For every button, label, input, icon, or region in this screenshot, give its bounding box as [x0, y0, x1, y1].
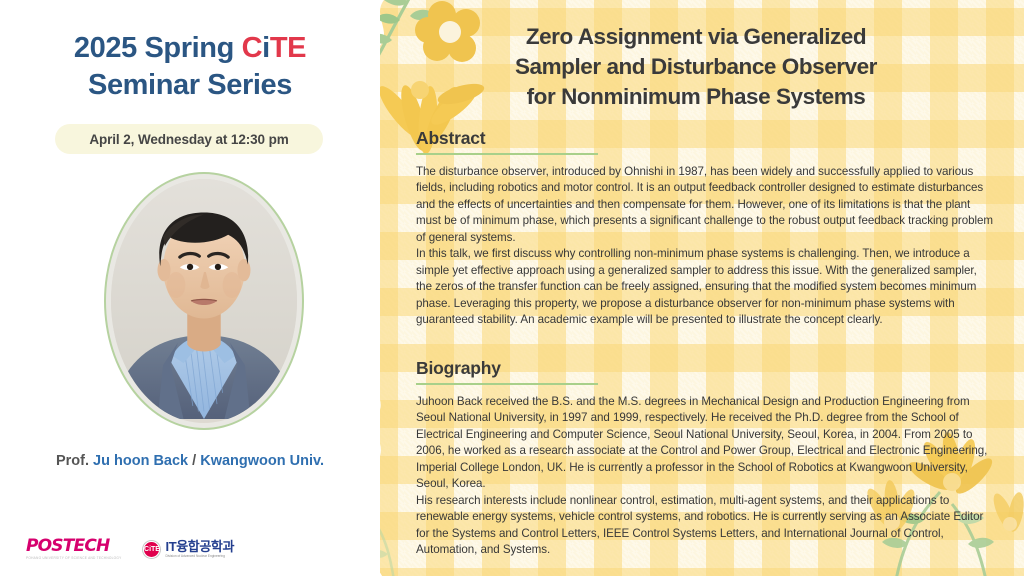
speaker-separator: / [188, 453, 200, 469]
postech-logo-tagline: POHANG UNIVERSITY OF SCIENCE AND TECHNOL… [26, 557, 121, 560]
seminar-poster: Zero Assignment via Generalized Sampler … [0, 0, 1024, 576]
biography-section: Biography Juhoon Back received the B.S. … [416, 358, 994, 559]
speaker-portrait-icon [111, 179, 297, 419]
cite-logo-text: IT융합공학과 Division of Advanced Nuclear Eng… [165, 540, 234, 558]
cite-badge-icon: CiTE [143, 541, 160, 558]
postech-logo: POSTECH POHANG UNIVERSITY OF SCIENCE AND… [26, 538, 121, 560]
cite-letter-i: i [262, 32, 270, 64]
talk-title-line2: Sampler and Disturbance Observer [396, 52, 996, 82]
series-title-line2: Seminar Series [0, 67, 380, 104]
speaker-photo-frame [104, 172, 304, 430]
talk-content: Zero Assignment via Generalized Sampler … [364, 0, 1024, 576]
abstract-paragraph-2: In this talk, we first discuss why contr… [416, 246, 994, 328]
left-panel: 2025 Spring CiTE Seminar Series April 2,… [0, 0, 380, 576]
biography-paragraph-2: His research interests include nonlinear… [416, 493, 994, 559]
date-badge-label: April 2, Wednesday at 12:30 pm [89, 132, 288, 147]
speaker-prefix: Prof. [56, 453, 93, 469]
cite-logo-wordmark: IT융합공학과 [165, 540, 234, 553]
right-panel: Zero Assignment via Generalized Sampler … [364, 0, 1024, 576]
abstract-heading: Abstract [416, 128, 994, 149]
abstract-rule [416, 153, 598, 155]
cite-letters-te: TE [270, 32, 306, 64]
cite-department-logo: CiTE IT융합공학과 Division of Advanced Nuclea… [143, 540, 234, 558]
cite-logo-tagline: Division of Advanced Nuclear Engineering [165, 555, 234, 558]
series-title-prefix: 2025 Spring [74, 32, 242, 64]
biography-body: Juhoon Back received the B.S. and the M.… [416, 394, 994, 559]
talk-title: Zero Assignment via Generalized Sampler … [396, 22, 996, 112]
series-title-line1: 2025 Spring CiTE [0, 30, 380, 67]
speaker-line: Prof. Ju hoon Back / Kwangwoon Univ. [0, 453, 380, 469]
series-title: 2025 Spring CiTE Seminar Series [0, 30, 380, 104]
speaker-affiliation: Kwangwoon Univ. [200, 453, 324, 469]
postech-logo-wordmark: POSTECH [26, 538, 121, 555]
speaker-photo [111, 179, 297, 423]
biography-heading: Biography [416, 358, 994, 379]
speaker-name: Ju hoon Back [93, 453, 188, 469]
date-badge: April 2, Wednesday at 12:30 pm [55, 124, 323, 154]
abstract-paragraph-1: The disturbance observer, introduced by … [416, 164, 994, 246]
cite-letter-c: C [242, 32, 263, 64]
biography-rule [416, 383, 598, 385]
talk-title-line3: for Nonminimum Phase Systems [396, 82, 996, 112]
talk-title-line1: Zero Assignment via Generalized [396, 22, 996, 52]
abstract-section: Abstract The disturbance observer, intro… [416, 128, 994, 329]
abstract-body: The disturbance observer, introduced by … [416, 164, 994, 329]
logo-row: POSTECH POHANG UNIVERSITY OF SCIENCE AND… [26, 538, 234, 560]
biography-paragraph-1: Juhoon Back received the B.S. and the M.… [416, 394, 994, 493]
